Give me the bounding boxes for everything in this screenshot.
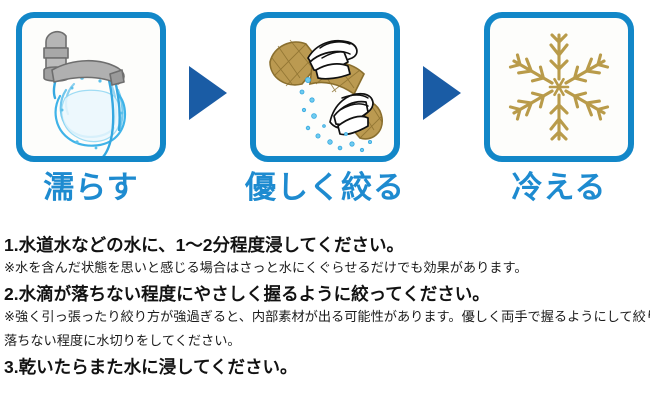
step-1-image-box <box>16 12 166 162</box>
step-3-label: 冷える <box>511 172 606 205</box>
step-2-label: 優しく絞る <box>245 172 405 205</box>
instruction-step-2: 2.水滴が落ちない程度にやさしく握るように絞ってください。 <box>4 283 648 305</box>
instruction-step-1: 1.水道水などの水に、1〜2分程度浸してください。 <box>4 234 648 256</box>
step-3-image-box <box>484 12 634 162</box>
hands-wringing-towel-icon <box>256 18 394 156</box>
arrow-1 <box>185 66 231 120</box>
instruction-note-1: ※水を含んだ状態を思いと感じる場合はさっと水にくぐらせるだけでも効果があります。 <box>4 259 648 276</box>
instruction-step-3: 3.乾いたらまた水に浸してください。 <box>4 356 648 378</box>
step-1-label: 濡らす <box>43 172 138 205</box>
step-row: 濡らす <box>0 0 650 228</box>
instruction-note-2: ※強く引っ張ったり絞り方が強過ぎると、内部素材が出る可能性があります。優しく両手… <box>4 308 648 325</box>
step-2-image-box <box>250 12 400 162</box>
step-1: 濡らす <box>6 0 176 205</box>
snowflake-icon <box>499 27 619 147</box>
instruction-note-2-continued: 落ちない程度に水切りをしてください。 <box>4 332 648 349</box>
faucet-water-icon <box>22 18 160 156</box>
step-2: 優しく絞る <box>240 0 410 205</box>
arrow-right-icon <box>189 66 227 120</box>
instruction-infographic: 濡らす <box>0 0 650 416</box>
arrow-right-icon <box>423 66 461 120</box>
step-3: 冷える <box>474 0 644 205</box>
instruction-list: 1.水道水などの水に、1〜2分程度浸してください。 ※水を含んだ状態を思いと感じ… <box>4 234 648 381</box>
arrow-2 <box>419 66 465 120</box>
